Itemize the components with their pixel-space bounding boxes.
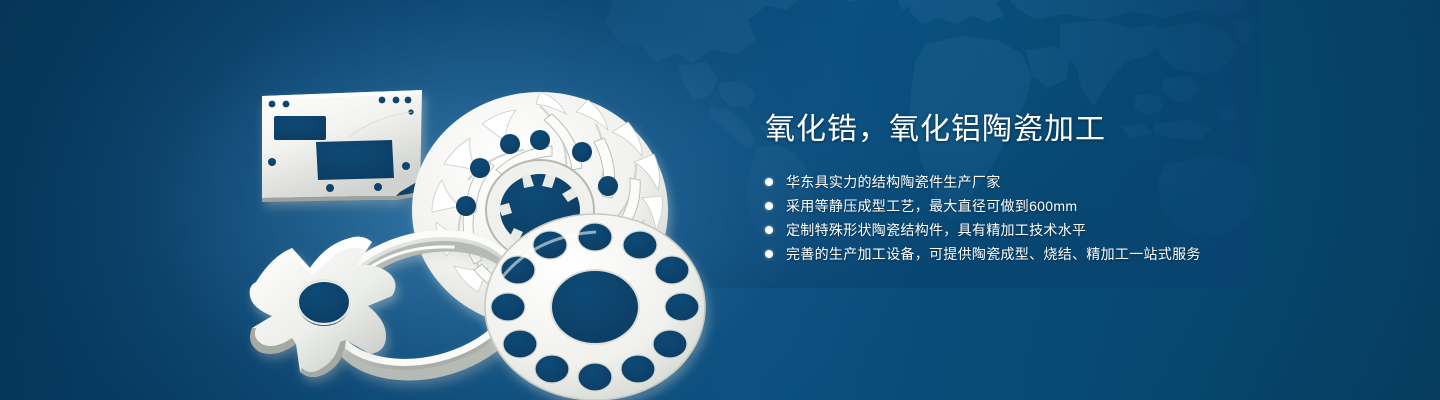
ceramic-hole-disc — [485, 214, 705, 400]
list-item: 华东具实力的结构陶瓷件生产厂家 — [765, 170, 1385, 194]
feature-text: 定制特殊形状陶瓷结构件，具有精加工技术水平 — [786, 218, 1086, 242]
feature-text: 完善的生产加工设备，可提供陶瓷成型、烧结、精加工一站式服务 — [786, 242, 1201, 266]
bullet-dot-icon — [765, 202, 773, 210]
ceramic-parts-photo — [200, 30, 720, 400]
list-item: 采用等静压成型工艺，最大直径可做到600mm — [765, 194, 1385, 218]
page-title: 氧化锆，氧化铝陶瓷加工 — [765, 110, 1385, 150]
bullet-dot-icon — [765, 226, 773, 234]
hero-banner: 氧化锆，氧化铝陶瓷加工 华东具实力的结构陶瓷件生产厂家 采用等静压成型工艺，最大… — [0, 0, 1440, 400]
bullet-dot-icon — [765, 178, 773, 186]
feature-list: 华东具实力的结构陶瓷件生产厂家 采用等静压成型工艺，最大直径可做到600mm 定… — [765, 170, 1385, 266]
list-item: 定制特殊形状陶瓷结构件，具有精加工技术水平 — [765, 218, 1385, 242]
feature-text: 华东具实力的结构陶瓷件生产厂家 — [786, 170, 1001, 194]
feature-text: 采用等静压成型工艺，最大直径可做到600mm — [786, 194, 1077, 218]
list-item: 完善的生产加工设备，可提供陶瓷成型、烧结、精加工一站式服务 — [765, 242, 1385, 266]
bullet-dot-icon — [765, 250, 773, 258]
banner-copy: 氧化锆，氧化铝陶瓷加工 华东具实力的结构陶瓷件生产厂家 采用等静压成型工艺，最大… — [765, 110, 1385, 266]
ceramic-flat-plate — [262, 90, 422, 202]
